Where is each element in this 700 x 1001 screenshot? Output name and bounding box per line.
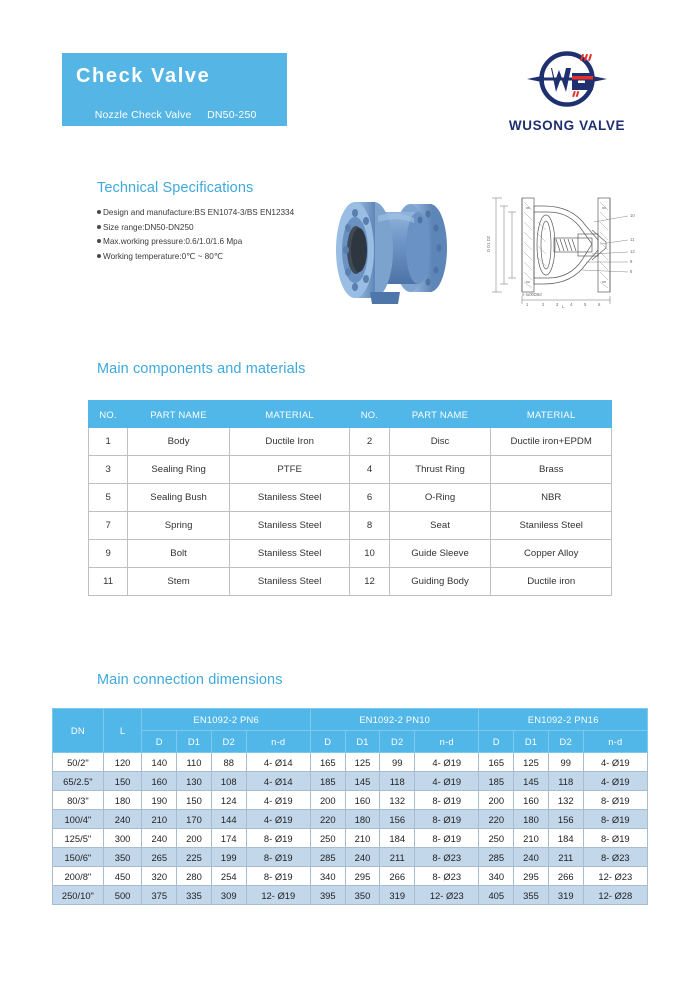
cell-l: 240 [103, 810, 142, 829]
cell-no: 10 [350, 540, 389, 568]
svg-text:12: 12 [630, 249, 635, 254]
cell-dn: 200/8" [53, 867, 104, 886]
bullet-icon [97, 254, 101, 258]
cell-pn10-d1: 350 [345, 886, 380, 905]
page-title: Check Valve [76, 66, 210, 86]
cell-pn6-d1: 335 [177, 886, 212, 905]
cell-pn6-d: 375 [142, 886, 177, 905]
cell-no: 2 [350, 428, 389, 456]
svg-text:9: 9 [630, 259, 633, 264]
cell-no: 1 [89, 428, 128, 456]
dimensions-table-body: 50/2"120140110884- Ø14165125994- Ø191651… [53, 753, 648, 905]
cell-pn6-d2: 309 [211, 886, 246, 905]
cross-section-drawing: 10 11 12 9 8 D D1 D2 1 2 3 4 5 6 L n-\u0… [482, 182, 648, 308]
table-row: 5 Sealing Bush Staniless Steel 6 O-Ring … [89, 484, 612, 512]
cell-pn10-nd: 12- Ø23 [415, 886, 479, 905]
cell-pn16-d: 405 [479, 886, 514, 905]
cell-mat: Staniless Steel [229, 484, 349, 512]
cell-no: 11 [89, 568, 128, 596]
cell-pn16-d: 340 [479, 867, 514, 886]
col-pn10-d2: D2 [380, 731, 415, 753]
cell-pn16-d1: 160 [514, 791, 549, 810]
cell-pn16-nd: 8- Ø19 [583, 791, 647, 810]
cell-pn10-d1: 125 [345, 753, 380, 772]
cell-pn10-d: 285 [310, 848, 345, 867]
svg-text:5: 5 [584, 302, 587, 307]
cell-pn10-d2: 99 [380, 753, 415, 772]
cell-no: 6 [350, 484, 389, 512]
cell-no: 3 [89, 456, 128, 484]
col-part-1: PART NAME [128, 401, 230, 428]
cell-pn16-d2: 118 [548, 772, 583, 791]
col-pn16-d: D [479, 731, 514, 753]
table-row: 3 Sealing Ring PTFE 4 Thrust Ring Brass [89, 456, 612, 484]
cell-pn10-d: 200 [310, 791, 345, 810]
cell-part: Sealing Bush [128, 484, 230, 512]
subtitle-product: Nozzle Check Valve [95, 109, 192, 121]
cell-pn6-d: 265 [142, 848, 177, 867]
group-pn10: EN1092-2 PN10 [310, 709, 479, 731]
group-pn6: EN1092-2 PN6 [142, 709, 311, 731]
cell-mat: Staniless Steel [229, 512, 349, 540]
cell-no: 7 [89, 512, 128, 540]
cell-dn: 100/4" [53, 810, 104, 829]
subtitle-range: DN50-250 [207, 109, 256, 121]
cell-mat: NBR [491, 484, 612, 512]
cell-mat: Staniless Steel [491, 512, 612, 540]
table-header-row: NO. PART NAME MATERIAL NO. PART NAME MAT… [89, 401, 612, 428]
cell-pn16-d1: 240 [514, 848, 549, 867]
cell-pn6-d2: 144 [211, 810, 246, 829]
cell-pn10-d: 395 [310, 886, 345, 905]
cell-pn6-d1: 130 [177, 772, 212, 791]
spec-text: Size range:DN50-DN250 [103, 223, 194, 232]
cell-pn10-d2: 118 [380, 772, 415, 791]
cell-pn6-d1: 110 [177, 753, 212, 772]
cell-mat: Ductile iron [491, 568, 612, 596]
cell-dn: 80/3" [53, 791, 104, 810]
company-name: WUSONG VALVE [497, 118, 637, 133]
cell-pn10-d1: 145 [345, 772, 380, 791]
spec-text: Max.working pressure:0.6/1.0/1.6 Mpa [103, 237, 242, 246]
cell-part: Stem [128, 568, 230, 596]
table-row: 7 Spring Staniless Steel 8 Seat Staniles… [89, 512, 612, 540]
cell-pn16-nd: 8- Ø19 [583, 810, 647, 829]
cell-pn10-nd: 8- Ø23 [415, 848, 479, 867]
cell-pn6-d: 320 [142, 867, 177, 886]
cell-pn6-nd: 8- Ø19 [246, 848, 310, 867]
cell-part: Guiding Body [389, 568, 491, 596]
cell-pn10-nd: 8- Ø23 [415, 867, 479, 886]
cell-pn6-d1: 280 [177, 867, 212, 886]
cell-pn16-d1: 125 [514, 753, 549, 772]
cell-pn16-d1: 180 [514, 810, 549, 829]
bullet-icon [97, 210, 101, 214]
cell-pn6-d2: 108 [211, 772, 246, 791]
cell-pn10-d2: 132 [380, 791, 415, 810]
cell-pn6-d: 210 [142, 810, 177, 829]
cell-pn10-nd: 4- Ø19 [415, 753, 479, 772]
svg-text:3: 3 [556, 302, 559, 307]
cell-mat: Ductile iron+EPDM [491, 428, 612, 456]
title-band: Check Valve Nozzle Check Valve DN50-250 [62, 53, 287, 126]
cell-pn6-d2: 199 [211, 848, 246, 867]
col-dn: DN [53, 709, 104, 753]
cell-part: Spring [128, 512, 230, 540]
cell-l: 120 [103, 753, 142, 772]
wusong-valve-mark-icon [525, 48, 609, 116]
col-l: L [103, 709, 142, 753]
spec-text: Working temperature:0℃ ~ 80℃ [103, 252, 223, 261]
cell-pn10-d: 250 [310, 829, 345, 848]
cell-mat: Brass [491, 456, 612, 484]
cell-pn16-d: 165 [479, 753, 514, 772]
svg-text:4: 4 [570, 302, 573, 307]
bullet-icon [97, 225, 101, 229]
cell-pn6-d2: 174 [211, 829, 246, 848]
svg-text:6: 6 [598, 302, 601, 307]
col-pn6-d1: D1 [177, 731, 212, 753]
cell-pn16-d1: 355 [514, 886, 549, 905]
cell-pn16-nd: 8- Ø19 [583, 829, 647, 848]
table-sub-header-row: D D1 D2 n-d D D1 D2 n-d D D1 D2 n-d [53, 731, 648, 753]
cell-part: Bolt [128, 540, 230, 568]
svg-text:11: 11 [630, 237, 635, 242]
cell-dn: 150/6" [53, 848, 104, 867]
table-row: 65/2.5"1501601301084- Ø141851451184- Ø19… [53, 772, 648, 791]
cell-pn6-d: 140 [142, 753, 177, 772]
cell-pn16-nd: 12- Ø28 [583, 886, 647, 905]
cell-part: O-Ring [389, 484, 491, 512]
cell-dn: 65/2.5" [53, 772, 104, 791]
cell-pn10-nd: 8- Ø19 [415, 791, 479, 810]
section-heading-dimensions: Main connection dimensions [97, 672, 283, 688]
col-pn6-d2: D2 [211, 731, 246, 753]
cell-pn6-d: 160 [142, 772, 177, 791]
cell-pn16-nd: 12- Ø23 [583, 867, 647, 886]
cell-part: Body [128, 428, 230, 456]
product-photo-check-valve [322, 188, 468, 312]
cell-pn10-nd: 8- Ø19 [415, 810, 479, 829]
cell-pn10-nd: 8- Ø19 [415, 829, 479, 848]
table-row: 80/3"1801901501244- Ø192001601328- Ø1920… [53, 791, 648, 810]
components-materials-table: NO. PART NAME MATERIAL NO. PART NAME MAT… [88, 400, 612, 596]
table-row: 1 Body Ductile Iron 2 Disc Ductile iron+… [89, 428, 612, 456]
col-mat-2: MATERIAL [491, 401, 612, 428]
cell-pn6-d1: 225 [177, 848, 212, 867]
cell-pn10-d1: 240 [345, 848, 380, 867]
svg-text:n-\u00D8d: n-\u00D8d [522, 292, 542, 297]
cell-pn6-d2: 254 [211, 867, 246, 886]
cell-part: Guide Sleeve [389, 540, 491, 568]
cell-pn16-nd: 4- Ø19 [583, 753, 647, 772]
cell-pn16-nd: 8- Ø23 [583, 848, 647, 867]
cell-pn16-d2: 266 [548, 867, 583, 886]
svg-text:1: 1 [526, 302, 529, 307]
table-row: 9 Bolt Staniless Steel 10 Guide Sleeve C… [89, 540, 612, 568]
cell-pn10-d2: 156 [380, 810, 415, 829]
cell-pn16-d: 285 [479, 848, 514, 867]
bullet-icon [97, 239, 101, 243]
section-heading-technical: Technical Specifications [97, 180, 253, 196]
cell-pn10-d: 185 [310, 772, 345, 791]
cell-pn16-nd: 4- Ø19 [583, 772, 647, 791]
cell-part: Sealing Ring [128, 456, 230, 484]
cell-pn16-d2: 211 [548, 848, 583, 867]
cell-pn6-d2: 124 [211, 791, 246, 810]
table-row: 50/2"120140110884- Ø14165125994- Ø191651… [53, 753, 648, 772]
col-pn16-d1: D1 [514, 731, 549, 753]
cell-pn10-d2: 184 [380, 829, 415, 848]
table-group-header-row: DN L EN1092-2 PN6 EN1092-2 PN10 EN1092-2… [53, 709, 648, 731]
col-pn6-d: D [142, 731, 177, 753]
col-mat-1: MATERIAL [229, 401, 349, 428]
svg-text:8: 8 [630, 269, 633, 274]
cell-dn: 125/5" [53, 829, 104, 848]
cell-pn10-d1: 210 [345, 829, 380, 848]
cell-pn10-d2: 319 [380, 886, 415, 905]
col-pn16-d2: D2 [548, 731, 583, 753]
col-pn10-nd: n-d [415, 731, 479, 753]
svg-text:L: L [562, 304, 565, 308]
cell-l: 350 [103, 848, 142, 867]
cell-pn10-d: 220 [310, 810, 345, 829]
cell-pn10-d1: 180 [345, 810, 380, 829]
cell-pn6-d1: 170 [177, 810, 212, 829]
page-header: Check Valve Nozzle Check Valve DN50-250 [0, 0, 700, 150]
cell-l: 150 [103, 772, 142, 791]
cell-mat: Staniless Steel [229, 568, 349, 596]
cell-pn10-d: 165 [310, 753, 345, 772]
cell-pn10-d: 340 [310, 867, 345, 886]
cell-pn10-d1: 160 [345, 791, 380, 810]
cell-mat: Ductile Iron [229, 428, 349, 456]
cell-pn16-d: 200 [479, 791, 514, 810]
cell-pn10-d2: 266 [380, 867, 415, 886]
table-row: 200/8"4503202802548- Ø193402952668- Ø233… [53, 867, 648, 886]
cell-mat: Staniless Steel [229, 540, 349, 568]
cell-no: 4 [350, 456, 389, 484]
cell-no: 5 [89, 484, 128, 512]
col-pn10-d1: D1 [345, 731, 380, 753]
section-heading-components: Main components and materials [97, 361, 305, 377]
group-pn16: EN1092-2 PN16 [479, 709, 648, 731]
page-subtitle: Nozzle Check Valve DN50-250 [76, 97, 257, 133]
cell-dn: 250/10" [53, 886, 104, 905]
cell-pn16-d2: 156 [548, 810, 583, 829]
cell-l: 450 [103, 867, 142, 886]
table-row: 100/4"2402101701444- Ø192201801568- Ø192… [53, 810, 648, 829]
cell-pn6-nd: 8- Ø19 [246, 867, 310, 886]
cell-pn16-d: 250 [479, 829, 514, 848]
cell-pn16-d: 185 [479, 772, 514, 791]
cell-pn16-d1: 210 [514, 829, 549, 848]
cell-pn6-d2: 88 [211, 753, 246, 772]
cell-pn6-d1: 200 [177, 829, 212, 848]
connection-dimensions-table: DN L EN1092-2 PN6 EN1092-2 PN10 EN1092-2… [52, 708, 648, 905]
cell-pn6-d: 190 [142, 791, 177, 810]
cell-part: Thrust Ring [389, 456, 491, 484]
cell-pn6-nd: 4- Ø14 [246, 753, 310, 772]
svg-text:D D1 D2: D D1 D2 [486, 235, 491, 252]
col-pn6-nd: n-d [246, 731, 310, 753]
cell-part: Seat [389, 512, 491, 540]
cell-no: 8 [350, 512, 389, 540]
col-pn10-d: D [310, 731, 345, 753]
cell-pn16-d: 220 [479, 810, 514, 829]
cell-pn10-nd: 4- Ø19 [415, 772, 479, 791]
cell-pn16-d2: 184 [548, 829, 583, 848]
col-no-1: NO. [89, 401, 128, 428]
cell-pn10-d1: 295 [345, 867, 380, 886]
col-part-2: PART NAME [389, 401, 491, 428]
cell-pn10-d2: 211 [380, 848, 415, 867]
cell-mat: PTFE [229, 456, 349, 484]
cell-l: 180 [103, 791, 142, 810]
table-row: 125/5"3002402001748- Ø192502101848- Ø192… [53, 829, 648, 848]
svg-text:2: 2 [542, 302, 545, 307]
col-no-2: NO. [350, 401, 389, 428]
svg-text:10: 10 [630, 213, 635, 218]
company-logo: WUSONG VALVE [497, 48, 637, 148]
cell-pn16-d2: 99 [548, 753, 583, 772]
cell-pn6-nd: 4- Ø19 [246, 810, 310, 829]
cell-pn16-d2: 319 [548, 886, 583, 905]
spec-text: Design and manufacture:BS EN1074-3/BS EN… [103, 208, 294, 217]
cell-no: 9 [89, 540, 128, 568]
cell-pn6-nd: 4- Ø14 [246, 772, 310, 791]
cell-pn16-d2: 132 [548, 791, 583, 810]
table-row: 250/10"50037533530912- Ø1939535031912- Ø… [53, 886, 648, 905]
cell-mat: Copper Alloy [491, 540, 612, 568]
cell-pn6-nd: 8- Ø19 [246, 829, 310, 848]
cell-no: 12 [350, 568, 389, 596]
cell-pn6-nd: 4- Ø19 [246, 791, 310, 810]
cell-pn16-d1: 295 [514, 867, 549, 886]
cell-l: 500 [103, 886, 142, 905]
col-pn16-nd: n-d [583, 731, 647, 753]
cell-l: 300 [103, 829, 142, 848]
table-row: 150/6"3502652251998- Ø192852402118- Ø232… [53, 848, 648, 867]
cell-pn16-d1: 145 [514, 772, 549, 791]
table-row: 11 Stem Staniless Steel 12 Guiding Body … [89, 568, 612, 596]
cell-part: Disc [389, 428, 491, 456]
cell-pn6-d: 240 [142, 829, 177, 848]
cell-pn6-d1: 150 [177, 791, 212, 810]
cell-dn: 50/2" [53, 753, 104, 772]
cell-pn6-nd: 12- Ø19 [246, 886, 310, 905]
